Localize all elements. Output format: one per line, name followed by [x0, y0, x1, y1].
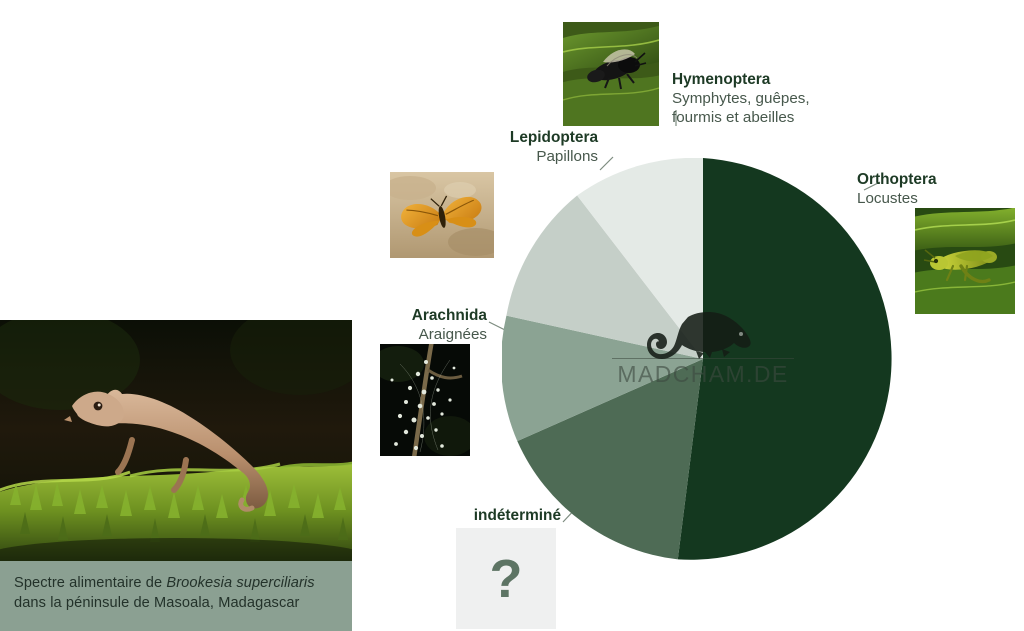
label-orthoptera: Orthoptera Locustes: [857, 170, 937, 208]
hero-caption: Spectre alimentaire de Brookesia superci…: [0, 561, 352, 631]
label-orthoptera-sub1: Locustes: [857, 189, 937, 208]
label-lepidoptera: Lepidoptera Papillons: [453, 128, 598, 166]
thumbnail-lepidoptera[interactable]: [390, 172, 494, 258]
label-hymenoptera: Hymenoptera Symphytes, guêpes, fourmis e…: [672, 70, 810, 127]
label-hymenoptera-sub1: Symphytes, guêpes,: [672, 89, 810, 108]
label-arachnida-title: Arachnida: [358, 306, 487, 325]
thumbnail-hymenoptera[interactable]: [563, 22, 659, 126]
pie-slice-orthoptera[interactable]: [678, 158, 892, 560]
label-lepidoptera-sub1: Papillons: [453, 147, 598, 166]
label-hymenoptera-title: Hymenoptera: [672, 70, 810, 89]
label-indetermine: indéterminé: [446, 506, 561, 525]
thumbnail-unknown-placeholder[interactable]: ?: [456, 528, 556, 629]
label-indetermine-title: indéterminé: [446, 506, 561, 525]
thumbnail-orthoptera[interactable]: [915, 208, 1015, 314]
thumbnail-arachnida[interactable]: [380, 344, 470, 456]
label-lepidoptera-title: Lepidoptera: [453, 128, 598, 147]
caption-species-name: Brookesia superciliaris: [166, 575, 314, 591]
question-mark-icon: ?: [490, 552, 523, 606]
pie-chart: [502, 158, 904, 560]
label-arachnida: Arachnida Araignées: [358, 306, 487, 344]
caption-prefix: Spectre alimentaire de: [14, 575, 166, 591]
caption-line-1: Spectre alimentaire de Brookesia superci…: [14, 573, 338, 593]
label-hymenoptera-sub2: fourmis et abeilles: [672, 108, 810, 127]
label-orthoptera-title: Orthoptera: [857, 170, 937, 189]
hero-photo-brookesia: [0, 320, 352, 561]
figure-canvas: Spectre alimentaire de Brookesia superci…: [0, 0, 1024, 631]
label-arachnida-sub1: Araignées: [358, 325, 487, 344]
caption-line-2: dans la péninsule de Masoala, Madagascar: [14, 593, 338, 613]
